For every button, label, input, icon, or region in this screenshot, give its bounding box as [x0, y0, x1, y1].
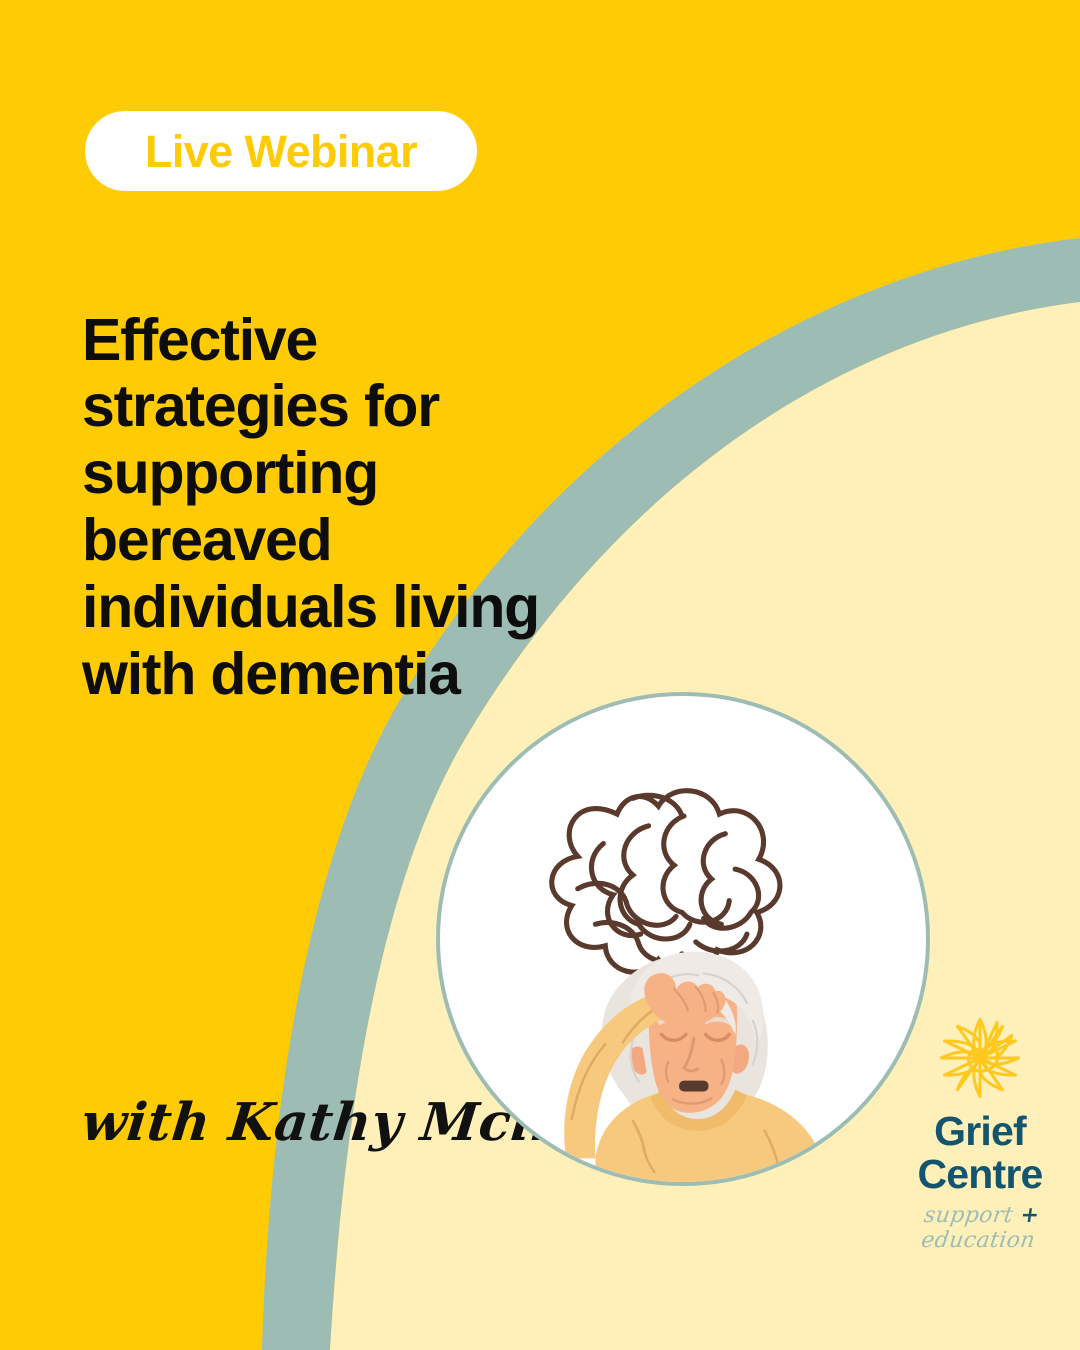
webinar-promo-poster: Live Webinar Effective strategies for su…: [0, 0, 1080, 1350]
elderly-woman-confused-illustration: [440, 696, 926, 1182]
title-line-4: bereaved: [82, 507, 682, 574]
mouth: [679, 1081, 709, 1092]
page-title: Effective strategies for supporting bere…: [82, 307, 682, 709]
title-line-1: Effective: [82, 307, 682, 374]
logo-tagline: support + education: [884, 1202, 1075, 1253]
logo-wordmark: Grief Centre: [888, 1110, 1072, 1195]
logo-tagline-education: education: [920, 1228, 1037, 1253]
logo-word-grief: Grief: [888, 1110, 1072, 1153]
sunflower-petals: [941, 1019, 1018, 1096]
live-webinar-badge: Live Webinar: [85, 111, 477, 191]
title-line-3: supporting: [82, 440, 682, 507]
sunflower-icon: [934, 1012, 1026, 1104]
illustration-circle: [436, 692, 930, 1186]
title-line-2: strategies for: [82, 373, 682, 440]
live-webinar-badge-label: Live Webinar: [145, 129, 417, 174]
logo-tagline-support: support: [922, 1203, 1015, 1228]
title-line-6: with dementia: [82, 641, 682, 708]
title-line-5: individuals living: [82, 574, 682, 641]
logo-tagline-plus: +: [1019, 1202, 1041, 1228]
logo-word-centre: Centre: [888, 1153, 1072, 1196]
grief-centre-logo: Grief Centre support + education: [888, 1012, 1072, 1253]
